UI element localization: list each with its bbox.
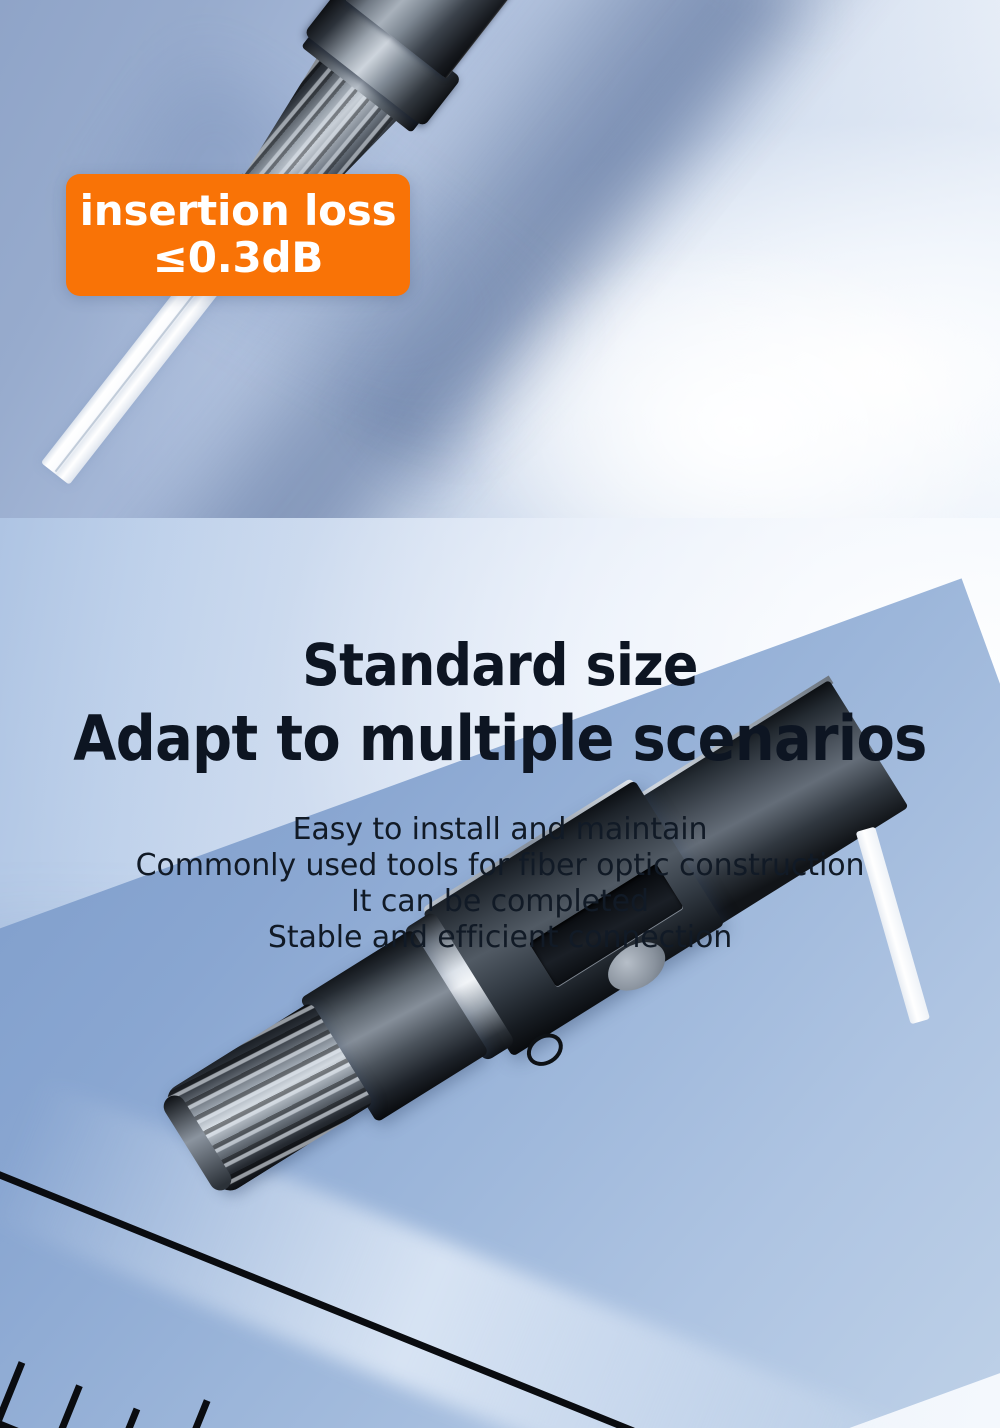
top-hero-panel: insertion loss ≤0.3dB — [0, 0, 1000, 518]
bottom-feature-panel — [0, 518, 1000, 1428]
ruler-tick — [53, 1384, 83, 1428]
insertion-loss-badge: insertion loss ≤0.3dB — [66, 174, 410, 296]
badge-value: ≤0.3dB — [153, 234, 323, 281]
product-marketing-page: insertion loss ≤0.3dB Standard — [0, 0, 1000, 1428]
ruler-tick — [0, 1361, 25, 1421]
ruler-tick — [110, 1408, 140, 1428]
badge-label: insertion loss — [80, 189, 397, 233]
ruler-tick — [168, 1399, 210, 1428]
